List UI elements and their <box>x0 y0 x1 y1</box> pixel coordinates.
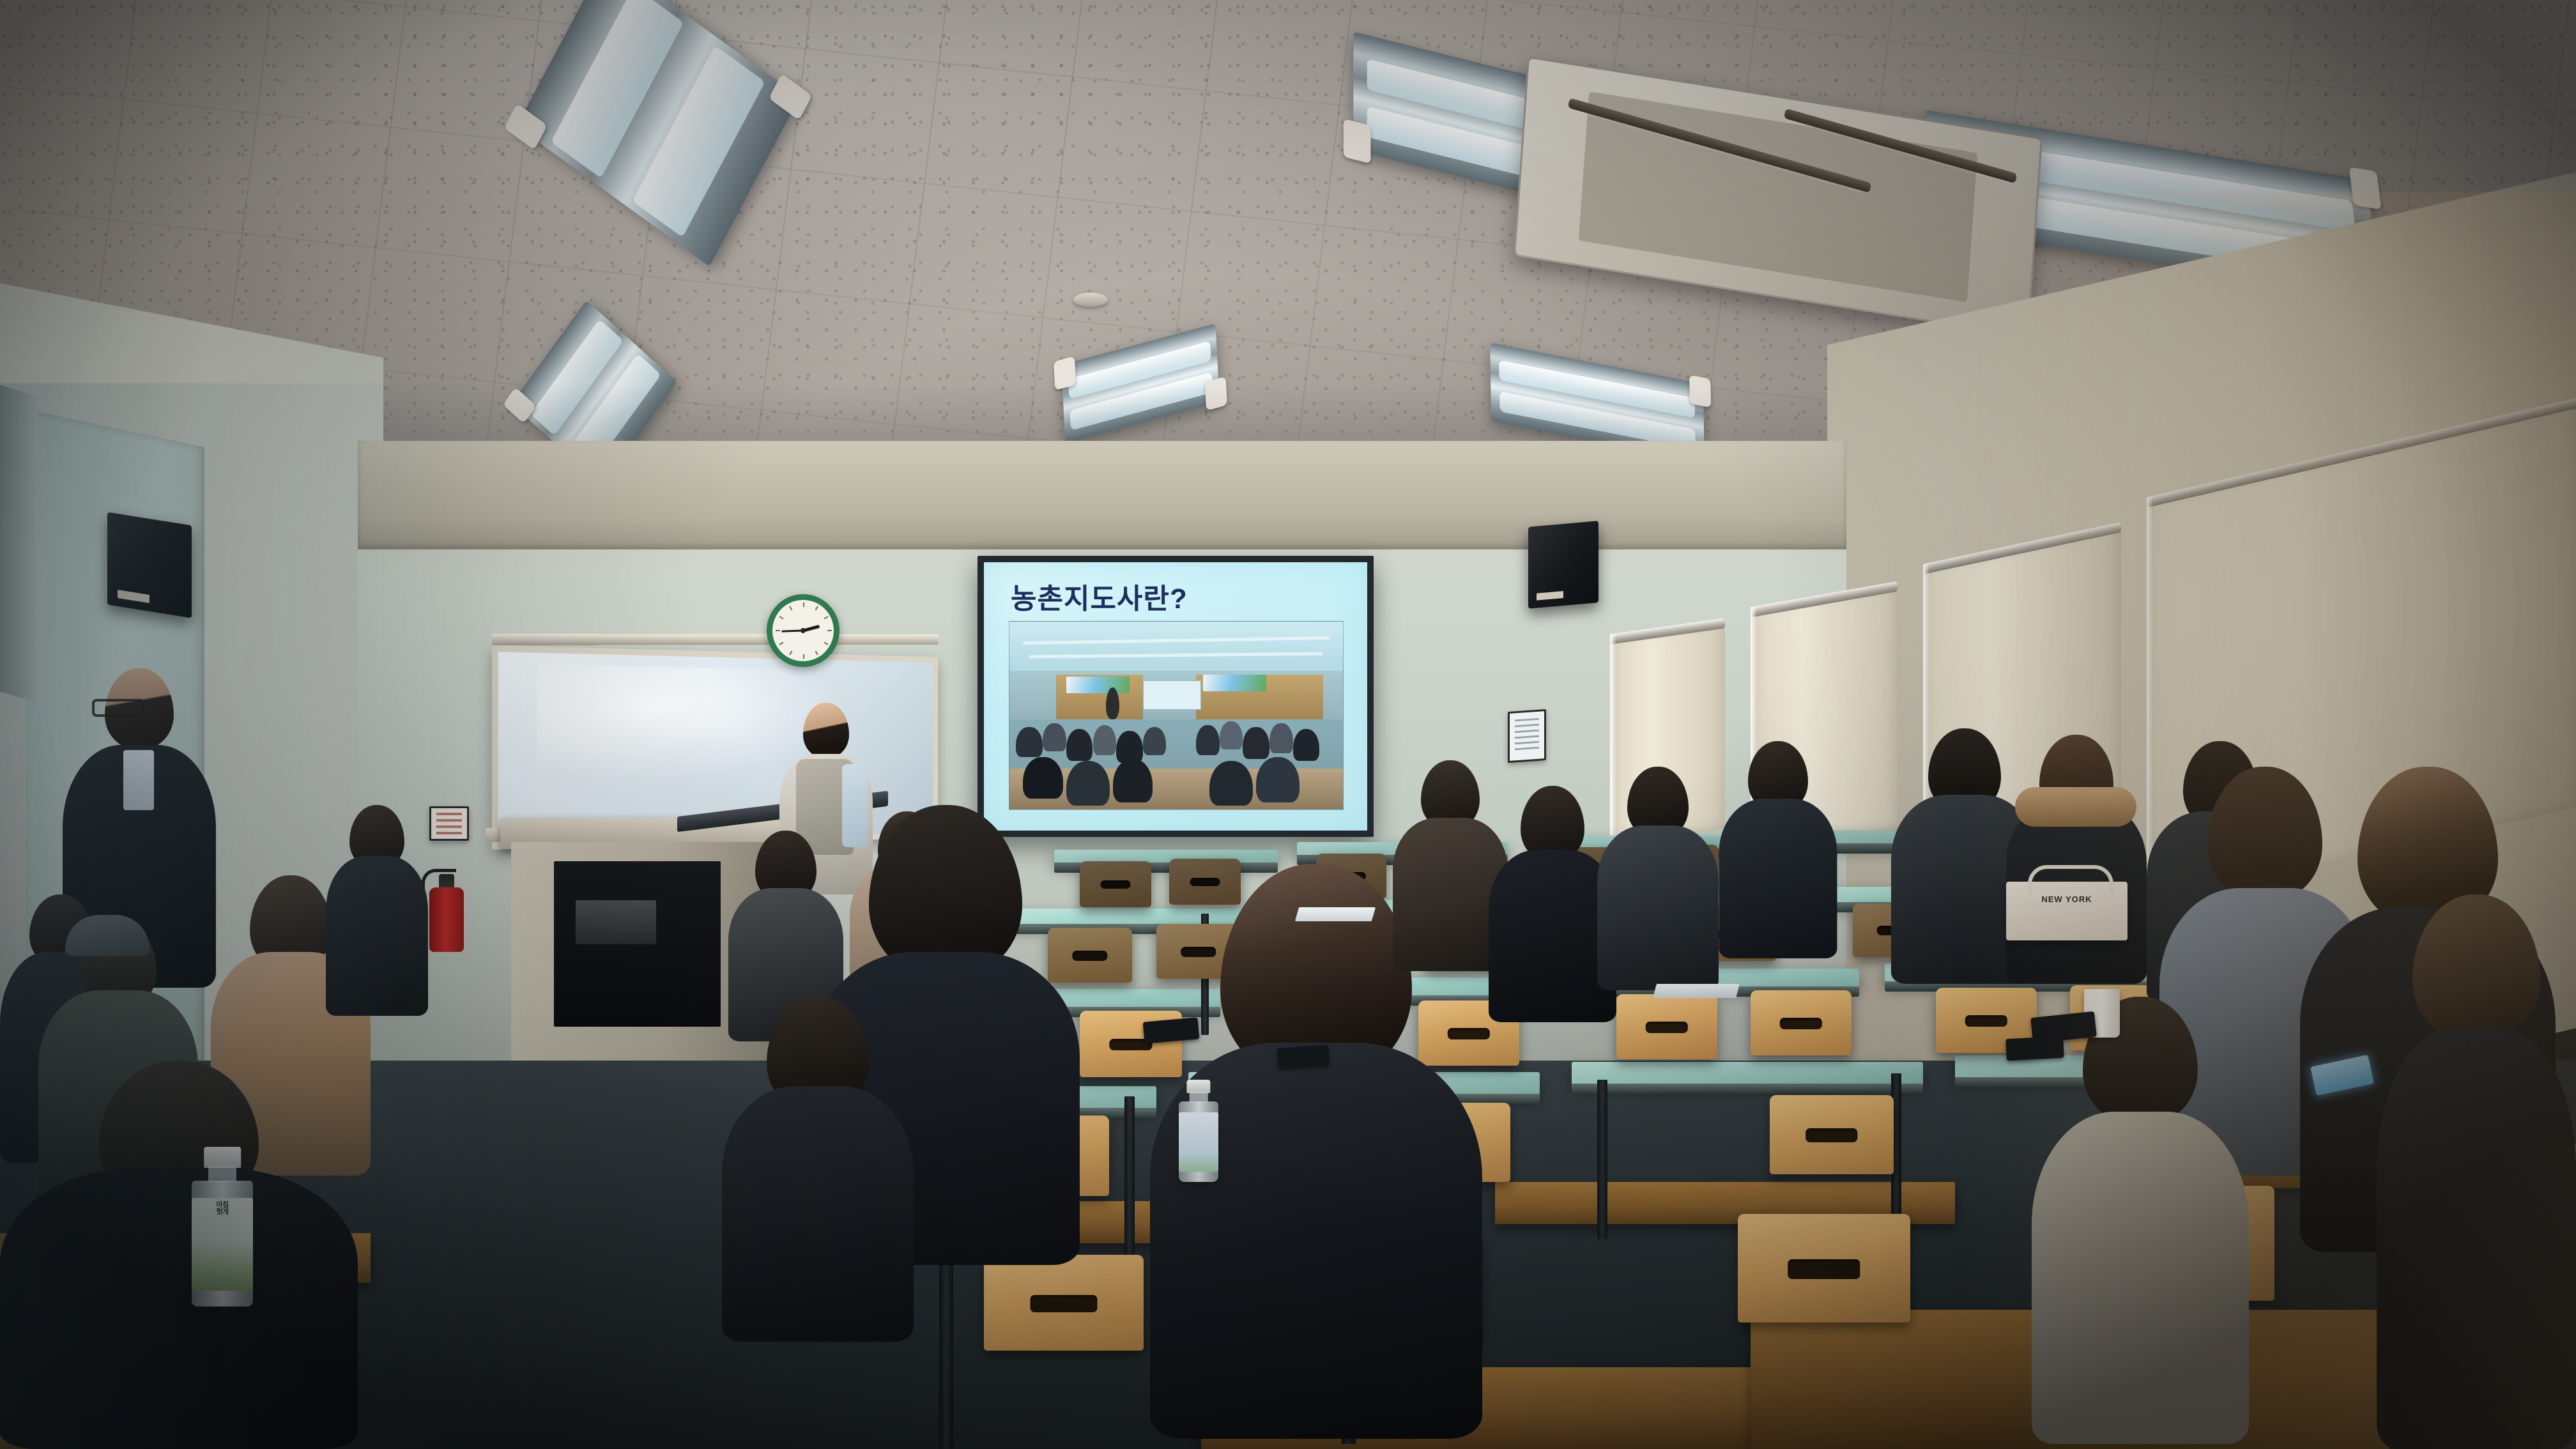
whiteboard-rail <box>492 634 938 645</box>
slide-title: 농촌지도사란? <box>1011 576 1188 617</box>
smartphone[interactable] <box>1277 1045 1330 1069</box>
seated-attendee <box>326 805 428 1016</box>
chair <box>1751 990 1851 1055</box>
chair <box>1738 1214 1910 1322</box>
smoke-detector <box>1073 293 1108 307</box>
paper-handout[interactable] <box>1653 984 1739 998</box>
wall-clock <box>767 594 839 667</box>
chair <box>1616 994 1717 1059</box>
seated-attendee <box>1597 767 1719 990</box>
slide-photo <box>1009 621 1344 810</box>
dress-shirt <box>123 750 154 810</box>
seated-attendee <box>0 1061 358 1449</box>
student-desk <box>1572 1062 1923 1085</box>
bottle-label-line2: 헛개 <box>216 1208 228 1216</box>
clock-minute-hand <box>781 630 803 632</box>
seated-attendee <box>722 997 914 1342</box>
projection-screen: 농촌지도사란? <box>977 556 1374 837</box>
paper-handout[interactable] <box>1295 907 1376 921</box>
tote-bag-text: NEW YORK <box>2006 894 2127 904</box>
chair <box>1770 1095 1894 1174</box>
desk-leg <box>1597 1080 1607 1239</box>
left-wall-pillar <box>0 385 38 703</box>
seated-attendee <box>1719 741 1837 958</box>
fur-hood-trim <box>2015 787 2136 827</box>
slide-surface: 농촌지도사란? <box>984 562 1367 831</box>
wall-speaker <box>1528 521 1598 609</box>
beverage-bottle[interactable]: 아침 헛개 <box>192 1147 253 1307</box>
eyeglasses <box>92 699 144 717</box>
desk-leg <box>939 1238 953 1449</box>
fire-extinguisher <box>429 869 464 952</box>
wall-notice-sign <box>429 806 469 841</box>
seated-attendee <box>2032 997 2249 1444</box>
tote-bag[interactable]: NEW YORK <box>2006 882 2127 940</box>
smartphone[interactable] <box>2005 1036 2064 1061</box>
water-bottle[interactable] <box>1179 1080 1218 1182</box>
desk-leg <box>1124 1096 1135 1262</box>
chair <box>984 1255 1144 1351</box>
wall-speaker <box>107 512 192 618</box>
seated-attendee <box>2006 735 2147 984</box>
chair <box>1080 861 1151 907</box>
seated-attendee <box>2377 894 2576 1449</box>
bottle-label-line1: 아침 <box>216 1201 228 1209</box>
front-wall-beam <box>358 441 1846 549</box>
classroom-scene: 농촌지도사란? <box>0 0 2576 1449</box>
wall-notice-sign <box>1508 709 1546 763</box>
cap <box>65 915 149 956</box>
